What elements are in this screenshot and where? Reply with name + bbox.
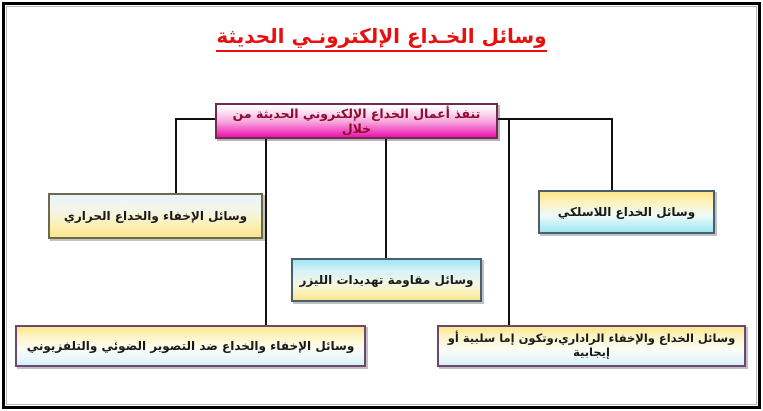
connector-root-to-radar-vertical xyxy=(508,128,510,326)
connector-root-to-laser-vertical xyxy=(385,138,387,259)
page-title: وسائل الخـداع الإلكترونـي الحديثة xyxy=(0,24,763,52)
node-root[interactable]: تنفذ أعمال الخداع الإلكتروني الحديثة من … xyxy=(215,103,498,139)
connector-root-to-wireless-horizontal xyxy=(496,118,613,120)
node-optical-tv-deception[interactable]: وسائل الإخفاء والخداع ضد التصوير الضوئي … xyxy=(15,325,366,367)
connector-root-right-stub xyxy=(508,118,510,128)
connector-root-to-thermal-vertical xyxy=(175,118,177,194)
node-thermal-deception-label: وسائل الإخفاء والخداع الحراري xyxy=(56,209,255,223)
node-optical-tv-deception-label: وسائل الإخفاء والخداع ضد التصوير الضوئي … xyxy=(23,339,358,353)
node-wireless-deception[interactable]: وسائل الخداع اللاسلكي xyxy=(538,190,715,234)
node-laser-countermeasures[interactable]: وسائل مقاومة تهديدات الليزر xyxy=(291,258,482,302)
diagram-page: وسائل الخـداع الإلكترونـي الحديثة تنفذ أ… xyxy=(0,0,763,411)
page-title-text: وسائل الخـداع الإلكترونـي الحديثة xyxy=(216,24,546,52)
connector-root-to-thermal-horizontal xyxy=(175,118,217,120)
node-root-label: تنفذ أعمال الخداع الإلكتروني الحديثة من … xyxy=(223,106,490,136)
node-radar-deception[interactable]: وسائل الخداع والإخفاء الراداري،وتكون إما… xyxy=(437,325,746,367)
node-thermal-deception[interactable]: وسائل الإخفاء والخداع الحراري xyxy=(48,193,263,239)
node-radar-deception-label: وسائل الخداع والإخفاء الراداري،وتكون إما… xyxy=(445,332,738,360)
connector-root-to-wireless-vertical xyxy=(611,118,613,191)
node-laser-countermeasures-label: وسائل مقاومة تهديدات الليزر xyxy=(299,273,474,287)
node-wireless-deception-label: وسائل الخداع اللاسلكي xyxy=(546,205,707,219)
connector-root-to-optical-vertical xyxy=(265,138,267,326)
